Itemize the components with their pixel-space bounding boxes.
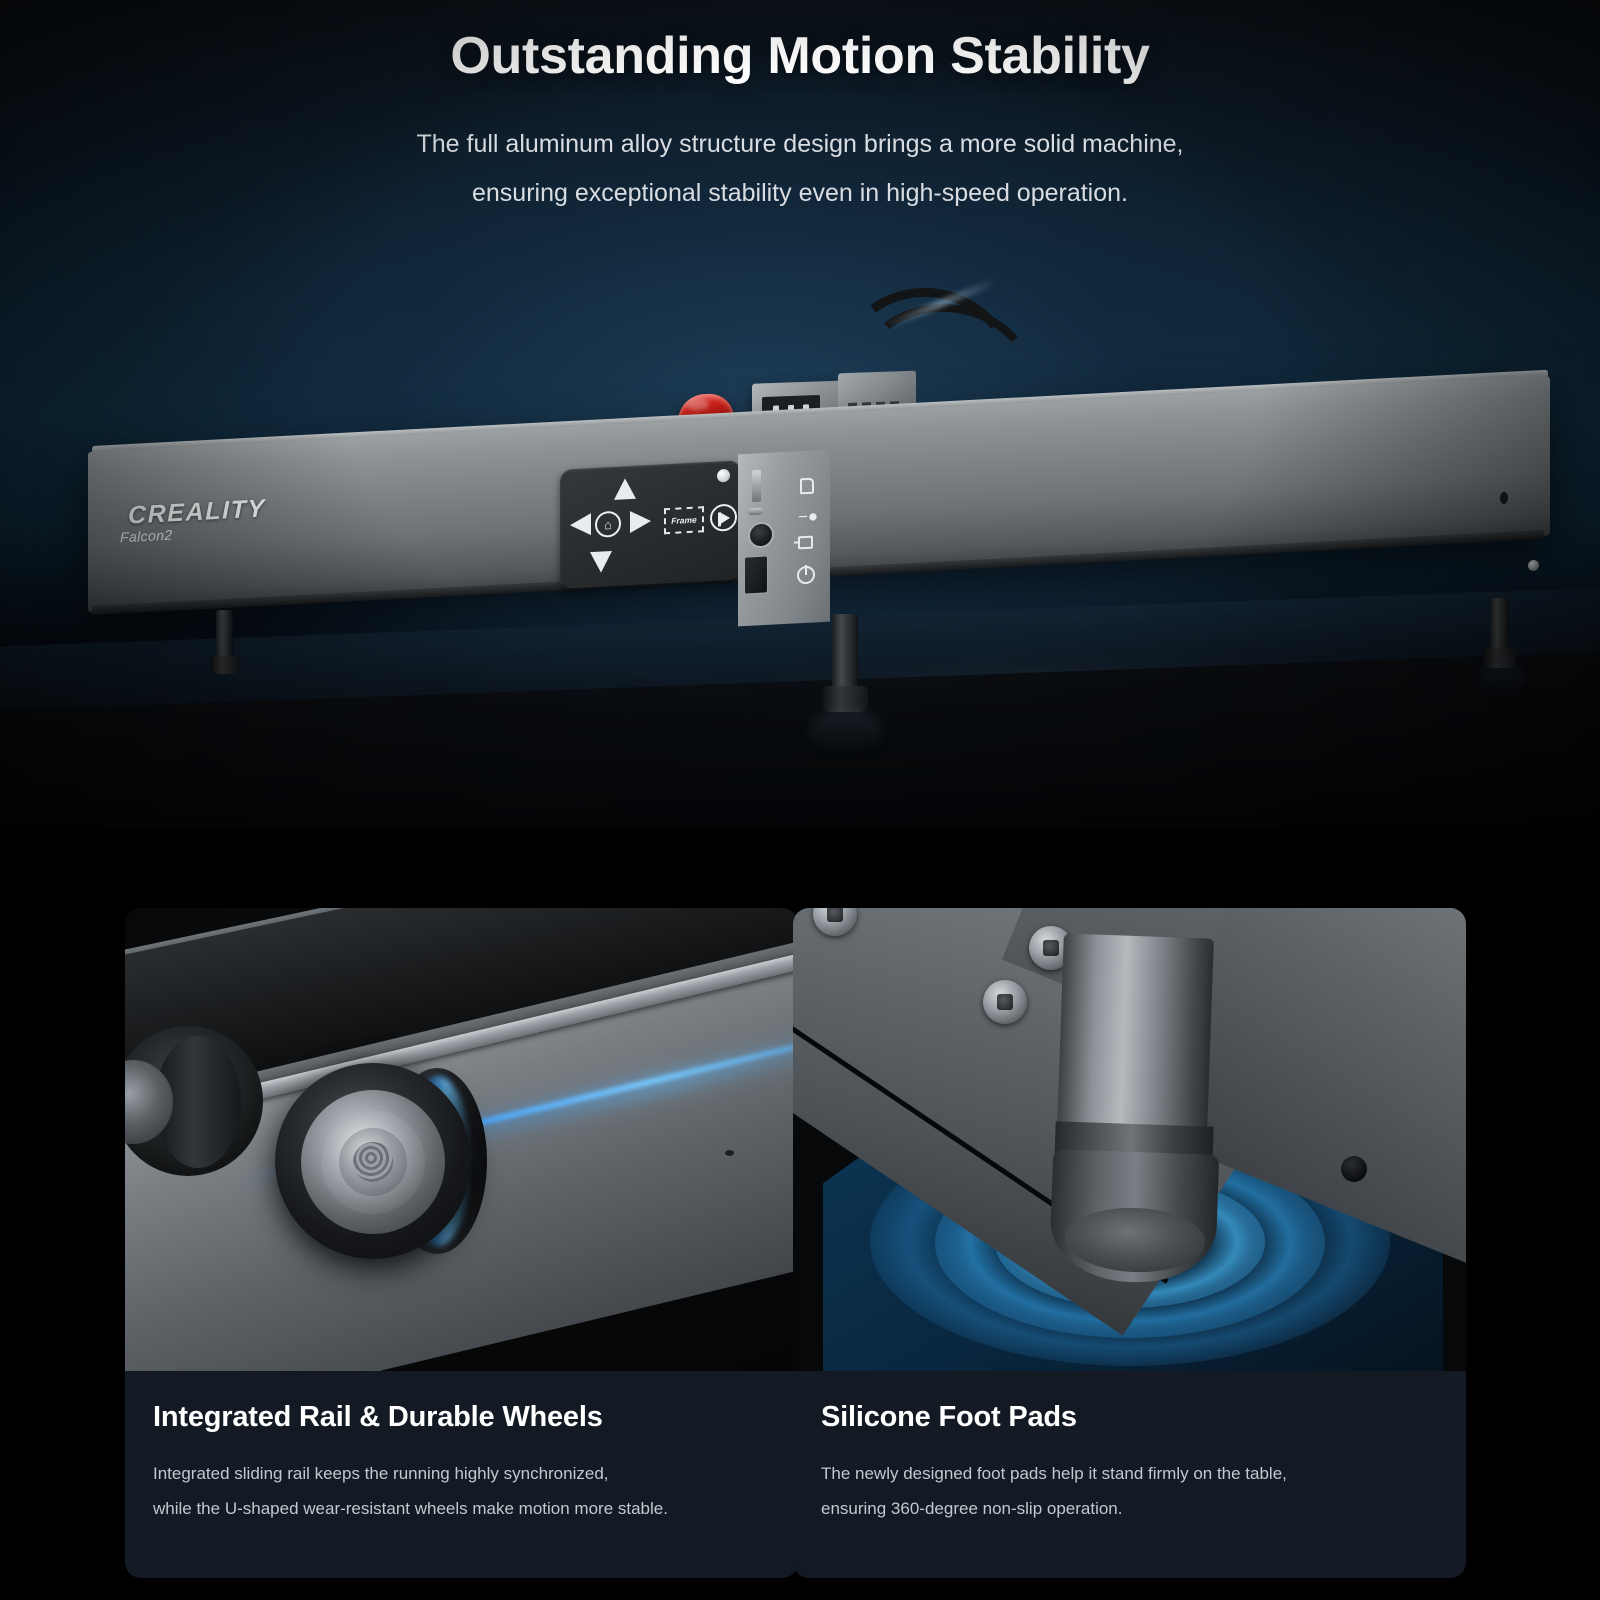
feature-cards-section: Integrated Rail & Durable Wheels Integra… [0, 905, 1600, 1600]
chassis-screw [1528, 560, 1539, 572]
rail-wheels-photo [125, 908, 798, 1371]
control-panel[interactable]: ⌂ Frame [560, 460, 741, 588]
play-pause-icon[interactable] [710, 503, 737, 531]
frame-button[interactable]: Frame [664, 506, 704, 534]
card-desc-line-1: Integrated sliding rail keeps the runnin… [153, 1456, 770, 1491]
leg-reflection-right [1480, 664, 1526, 694]
foot-pads-card-body: Silicone Foot Pads The newly designed fo… [793, 1371, 1466, 1578]
usb-c-port[interactable] [748, 508, 763, 516]
card-desc-line-2: ensuring 360-degree non-slip operation. [821, 1491, 1438, 1526]
up-arrow-icon[interactable] [614, 478, 636, 500]
hex-screw-1 [983, 980, 1027, 1024]
falcon2-laser-engraver: CREALITY Falcon2 ⌂ Frame −● [0, 0, 1600, 905]
foot-pad-left [210, 656, 239, 674]
rail-mounting-hole [725, 1150, 734, 1156]
hero-section: Outstanding Motion Stability The full al… [0, 0, 1600, 905]
network-icon [798, 536, 813, 550]
support-leg-right [1490, 598, 1509, 654]
sd-card-icon [800, 478, 814, 495]
feature-card-rail-wheels: Integrated Rail & Durable Wheels Integra… [125, 908, 798, 1578]
sd-card-slot[interactable] [752, 470, 761, 502]
status-led-icon [717, 469, 730, 483]
card-desc-line-2: while the U-shaped wear-resistant wheels… [153, 1491, 770, 1526]
card-title-foot-pads: Silicone Foot Pads [821, 1401, 1438, 1434]
foot-pads-photo [793, 908, 1466, 1371]
left-arrow-icon[interactable] [570, 513, 591, 536]
leg-reflection-center [810, 708, 882, 754]
card-desc-line-1: The newly designed foot pads help it sta… [821, 1456, 1438, 1491]
power-rocker-switch[interactable] [744, 555, 768, 594]
rail-wheels-card-body: Integrated Rail & Durable Wheels Integra… [125, 1371, 798, 1578]
home-icon[interactable]: ⌂ [595, 511, 621, 538]
right-arrow-icon[interactable] [630, 510, 651, 533]
card-description-rail-wheels: Integrated sliding rail keeps the runnin… [153, 1456, 770, 1526]
chassis-hole [1341, 1156, 1367, 1182]
feature-card-foot-pads: Silicone Foot Pads The newly designed fo… [793, 908, 1466, 1578]
card-description-foot-pads: The newly designed foot pads help it sta… [821, 1456, 1438, 1526]
support-leg-left [216, 610, 233, 662]
support-leg-center [832, 614, 858, 692]
down-arrow-icon[interactable] [590, 551, 612, 573]
card-title-rail-wheels: Integrated Rail & Durable Wheels [153, 1401, 770, 1434]
product-feature-page: Outstanding Motion Stability The full al… [0, 0, 1600, 1600]
model-name: Falcon2 [120, 527, 173, 546]
wheel-center-hub [353, 1142, 393, 1182]
usb-icon: −● [798, 507, 818, 525]
